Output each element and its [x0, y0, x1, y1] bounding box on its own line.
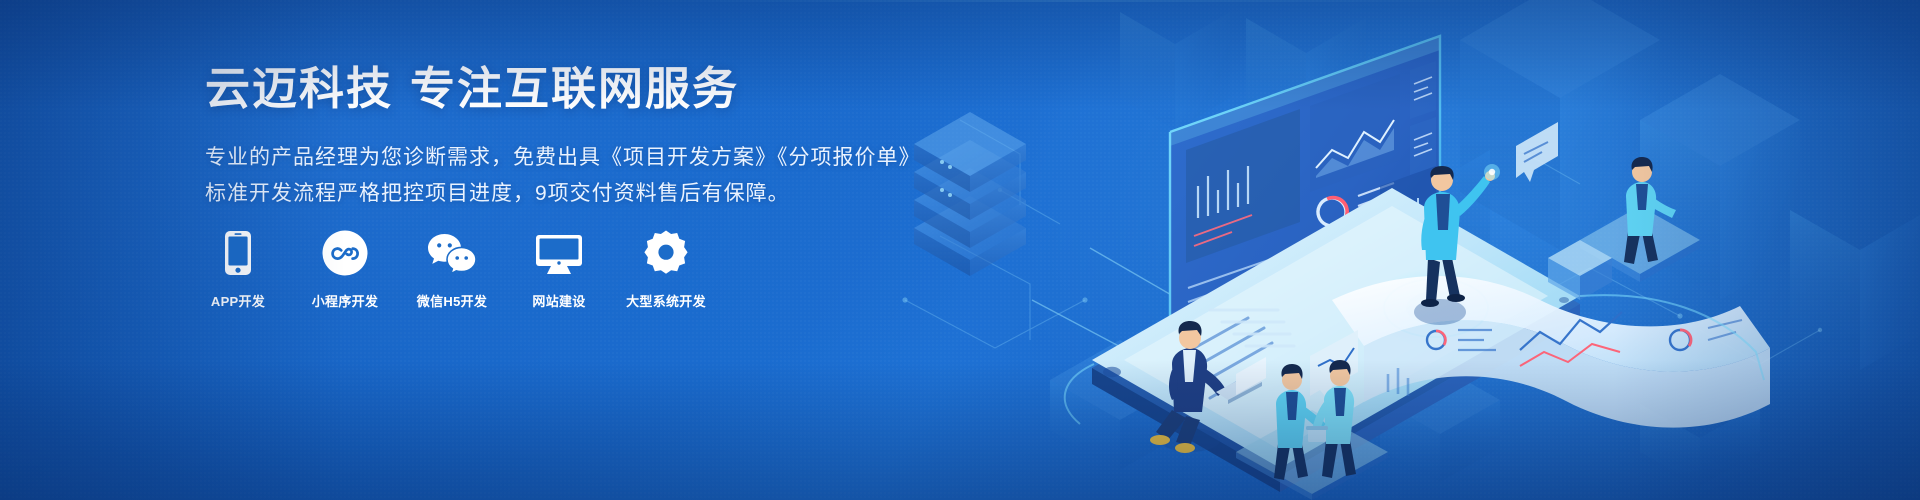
- service-label-miniprogram: 小程序开发: [312, 291, 379, 310]
- service-item-website[interactable]: 网站建设: [521, 228, 597, 310]
- page-title: 云迈科技专注互联网服务: [205, 62, 925, 115]
- service-item-miniprogram[interactable]: 小程序开发: [307, 228, 383, 310]
- desktop-monitor-icon: [535, 228, 583, 276]
- mini-program-icon: [322, 228, 368, 276]
- isometric-tech-illustration: [880, 0, 1920, 500]
- service-item-large-system[interactable]: 大型系统开发: [628, 228, 704, 310]
- hero-banner: 云迈科技专注互联网服务 专业的产品经理为您诊断需求，免费出具《项目开发方案》《分…: [0, 0, 1920, 500]
- server-stack-blocks: [914, 112, 1026, 276]
- banner-copy: 云迈科技专注互联网服务 专业的产品经理为您诊断需求，免费出具《项目开发方案》《分…: [205, 62, 925, 211]
- service-label-website: 网站建设: [532, 291, 585, 310]
- gear-cog-icon: [643, 228, 689, 276]
- mobile-phone-icon: [224, 228, 252, 276]
- service-list: APP开发 小程序开发: [200, 228, 704, 310]
- right-platform-person: [1516, 122, 1700, 300]
- title-brand: 云迈科技: [205, 63, 393, 114]
- title-tagline: 专注互联网服务: [410, 63, 739, 114]
- service-label-large-system: 大型系统开发: [626, 291, 706, 310]
- service-label-app: APP开发: [211, 291, 265, 310]
- subtitle-line-1: 专业的产品经理为您诊断需求，免费出具《项目开发方案》《分项报价单》: [205, 141, 925, 175]
- service-label-wechat-h5: 微信H5开发: [417, 291, 487, 310]
- wechat-chat-icon: [426, 228, 478, 276]
- subtitle-line-2: 标准开发流程严格把控项目进度，9项交付资料售后有保障。: [205, 177, 925, 211]
- service-item-wechat-h5[interactable]: 微信H5开发: [414, 228, 490, 310]
- service-item-app[interactable]: APP开发: [200, 228, 276, 310]
